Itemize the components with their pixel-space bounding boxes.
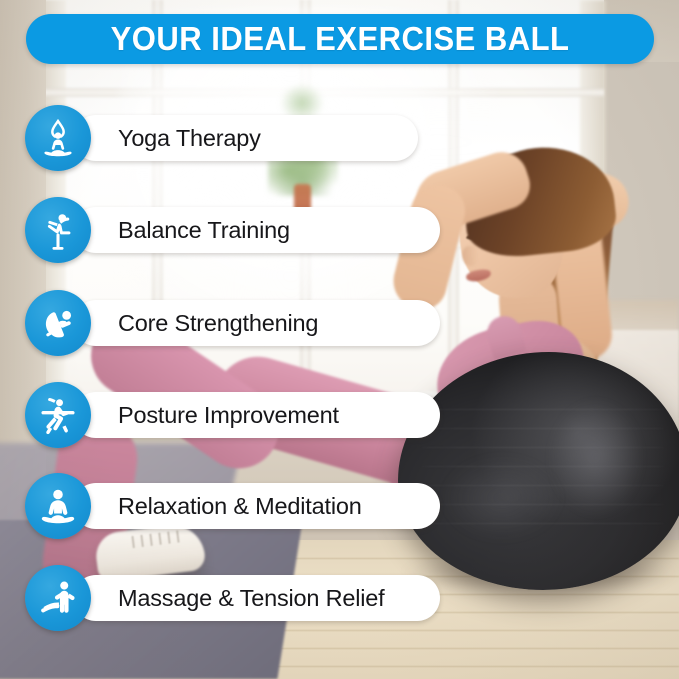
feature-label: Relaxation & Meditation bbox=[73, 493, 388, 520]
feature-pill: Posture Improvement bbox=[73, 392, 440, 438]
balance-dancer-pose-icon bbox=[25, 197, 91, 263]
product-feature-poster: YOUR IDEAL EXERCISE BALL Yoga Therapy Ba… bbox=[0, 0, 679, 679]
feature-pill: Core Strengthening bbox=[73, 300, 440, 346]
feature-label: Yoga Therapy bbox=[73, 125, 287, 152]
feature-label: Balance Training bbox=[73, 217, 316, 244]
feature-pill: Balance Training bbox=[73, 207, 440, 253]
feature-pill: Relaxation & Meditation bbox=[73, 483, 440, 529]
feature-label: Core Strengthening bbox=[73, 310, 344, 337]
feature-label: Posture Improvement bbox=[73, 402, 365, 429]
warrior-pose-icon bbox=[25, 382, 91, 448]
core-crunch-icon bbox=[25, 290, 91, 356]
feature-label: Massage & Tension Relief bbox=[73, 585, 410, 612]
feature-pill: Yoga Therapy bbox=[73, 115, 418, 161]
yoga-lotus-arms-up-icon bbox=[25, 105, 91, 171]
meditation-lotus-icon bbox=[25, 473, 91, 539]
feature-list: Yoga Therapy Balance Training bbox=[0, 0, 679, 679]
massage-stretch-icon bbox=[25, 565, 91, 631]
feature-pill: Massage & Tension Relief bbox=[73, 575, 440, 621]
